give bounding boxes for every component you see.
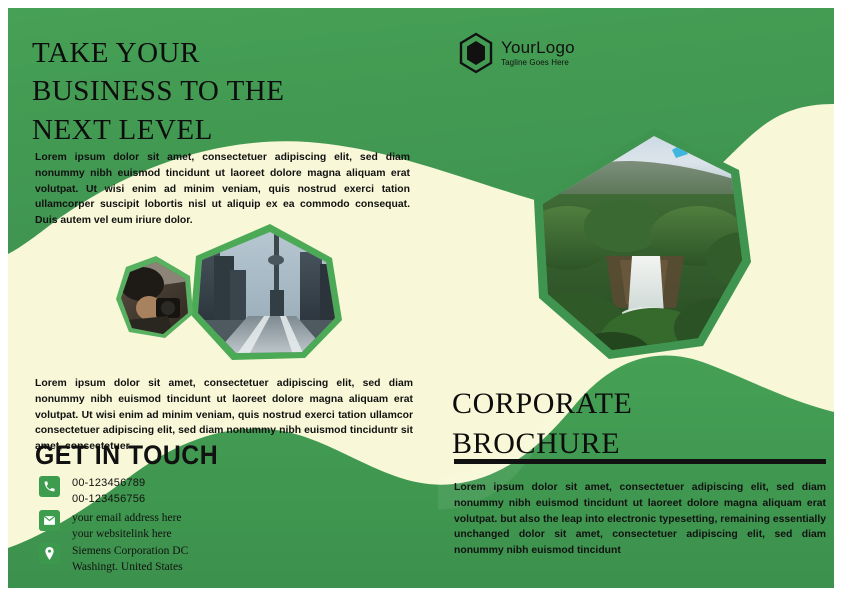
- brand-logo[interactable]: YourLogo Tagline Goes Here: [458, 32, 575, 74]
- website-link: your websitelink here: [72, 528, 172, 540]
- company-location: Washingt. United States: [72, 561, 183, 573]
- contact-row-address[interactable]: Siemens Corporation DC Washingt. United …: [39, 543, 188, 576]
- phone-number-1: 00-123456789: [72, 477, 145, 489]
- get-in-touch-heading: GET IN TOUCH: [35, 440, 218, 471]
- brochure-page: TAKE YOUR BUSINESS TO THE NEXT LEVEL Lor…: [0, 0, 842, 596]
- main-headline: TAKE YOUR BUSINESS TO THE NEXT LEVEL: [32, 34, 332, 149]
- city-railway-hexagon-photo: [191, 224, 343, 364]
- phone-number-2: 00-123456756: [72, 493, 145, 505]
- envelope-icon: [39, 510, 60, 531]
- contact-row-phone[interactable]: 00-123456789 00-123456756: [39, 476, 145, 507]
- hexagon-logo-icon: [458, 32, 494, 74]
- brochure-title: CORPORATE BROCHURE: [452, 384, 632, 464]
- brochure-title-line-1: CORPORATE: [452, 384, 632, 424]
- title-underline-rule: [454, 459, 826, 464]
- logo-name: YourLogo: [501, 39, 575, 56]
- left-intro-paragraph: Lorem ipsum dolor sit amet, consectetuer…: [35, 150, 410, 229]
- brochure-title-line-2: BROCHURE: [452, 424, 632, 464]
- contact-row-email[interactable]: your email address here your websitelink…: [39, 510, 182, 543]
- phone-icon: [39, 476, 60, 497]
- logo-tagline: Tagline Goes Here: [501, 59, 575, 67]
- location-pin-icon: [39, 543, 60, 564]
- photographer-hexagon-photo: [113, 256, 197, 340]
- email-address: your email address here: [72, 512, 182, 524]
- company-name: Siemens Corporation DC: [72, 545, 188, 557]
- brochure-canvas: TAKE YOUR BUSINESS TO THE NEXT LEVEL Lor…: [8, 8, 834, 588]
- right-body-paragraph: Lorem ipsum dolor sit amet, consectetuer…: [454, 480, 826, 559]
